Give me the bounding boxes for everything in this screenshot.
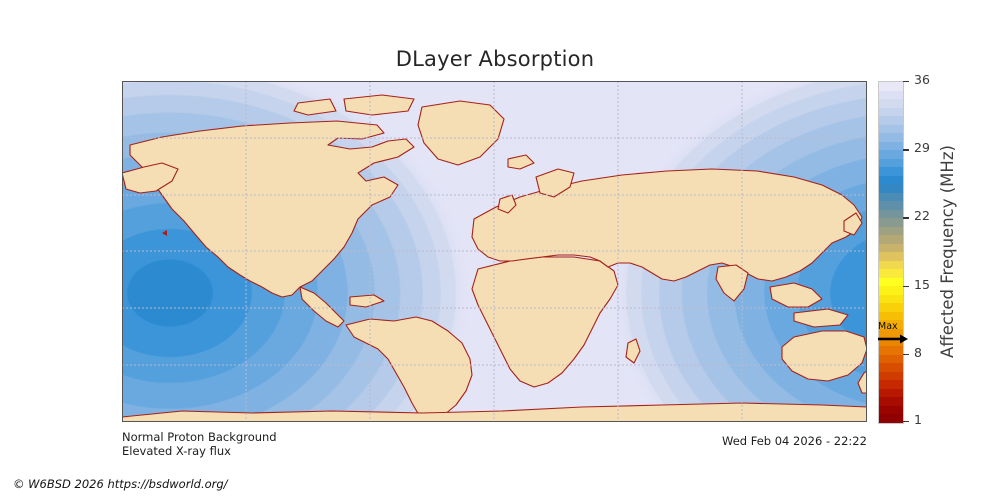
- status-xray-flux: Elevated X-ray flux: [122, 444, 231, 458]
- colorbar-band: [879, 414, 903, 423]
- colorbar-tick-label: 1: [914, 412, 922, 427]
- colorbar-band: [879, 346, 903, 355]
- colorbar-band: [879, 312, 903, 321]
- colorbar-band: [879, 133, 903, 142]
- colorbar-tick-label: 22: [914, 208, 930, 223]
- colorbar-band: [879, 363, 903, 372]
- copyright-label: © W6BSD 2026 https://bsdworld.org/: [13, 477, 228, 491]
- timestamp-label: Wed Feb 04 2026 - 22:22: [722, 434, 867, 448]
- colorbar-tick-label: 36: [914, 72, 930, 87]
- colorbar-tick-dash: [903, 354, 909, 355]
- map-svg: [122, 81, 867, 422]
- world-map[interactable]: [122, 81, 867, 422]
- colorbar-band: [879, 252, 903, 261]
- colorbar-tick-dash: [903, 217, 909, 218]
- colorbar-band: [879, 193, 903, 202]
- colorbar-tick-label: 15: [914, 277, 930, 292]
- colorbar-band: [879, 176, 903, 185]
- colorbar-band: [879, 261, 903, 270]
- colorbar-tick-dash: [903, 421, 909, 422]
- colorbar-band: [879, 372, 903, 381]
- colorbar-tick-label: 29: [914, 140, 930, 155]
- colorbar-band: [879, 142, 903, 151]
- colorbar-band: [879, 91, 903, 100]
- colorbar-band: [879, 108, 903, 117]
- colorbar-tick-dash: [903, 286, 909, 287]
- colorbar[interactable]: [878, 81, 904, 424]
- colorbar-tick-label: 8: [914, 345, 922, 360]
- colorbar-tick-dash: [903, 149, 909, 150]
- colorbar-band: [879, 380, 903, 389]
- colorbar-band: [879, 227, 903, 236]
- colorbar-band: [879, 99, 903, 108]
- colorbar-band: [879, 210, 903, 219]
- colorbar-band: [879, 286, 903, 295]
- status-proton-background: Normal Proton Background: [122, 430, 277, 444]
- colorbar-band: [879, 329, 903, 338]
- colorbar-band: [879, 269, 903, 278]
- colorbar-band: [879, 337, 903, 346]
- colorbar-band: [879, 167, 903, 176]
- colorbar-band: [879, 295, 903, 304]
- colorbar-band: [879, 389, 903, 398]
- colorbar-band: [879, 116, 903, 125]
- colorbar-band: [879, 125, 903, 134]
- colorbar-band: [879, 406, 903, 415]
- colorbar-band: [879, 355, 903, 364]
- figure-canvas: DLayer Absorption: [0, 0, 1000, 500]
- colorbar-band: [879, 82, 903, 91]
- colorbar-band: [879, 303, 903, 312]
- colorbar-tick-dash: [903, 81, 909, 82]
- colorbar-band: [879, 397, 903, 406]
- arctic-islands: [344, 95, 414, 115]
- colorbar-band: [879, 184, 903, 193]
- colorbar-axis-title: Affected Frequency (MHz): [936, 0, 960, 81]
- colorbar-band: [879, 159, 903, 168]
- colorbar-band: [879, 235, 903, 244]
- colorbar-band: [879, 218, 903, 227]
- colorbar-band: [879, 244, 903, 253]
- colorbar-band: [879, 150, 903, 159]
- colorbar-band: [879, 320, 903, 329]
- page-title: DLayer Absorption: [0, 47, 990, 71]
- colorbar-band: [879, 278, 903, 287]
- colorbar-band: [879, 201, 903, 210]
